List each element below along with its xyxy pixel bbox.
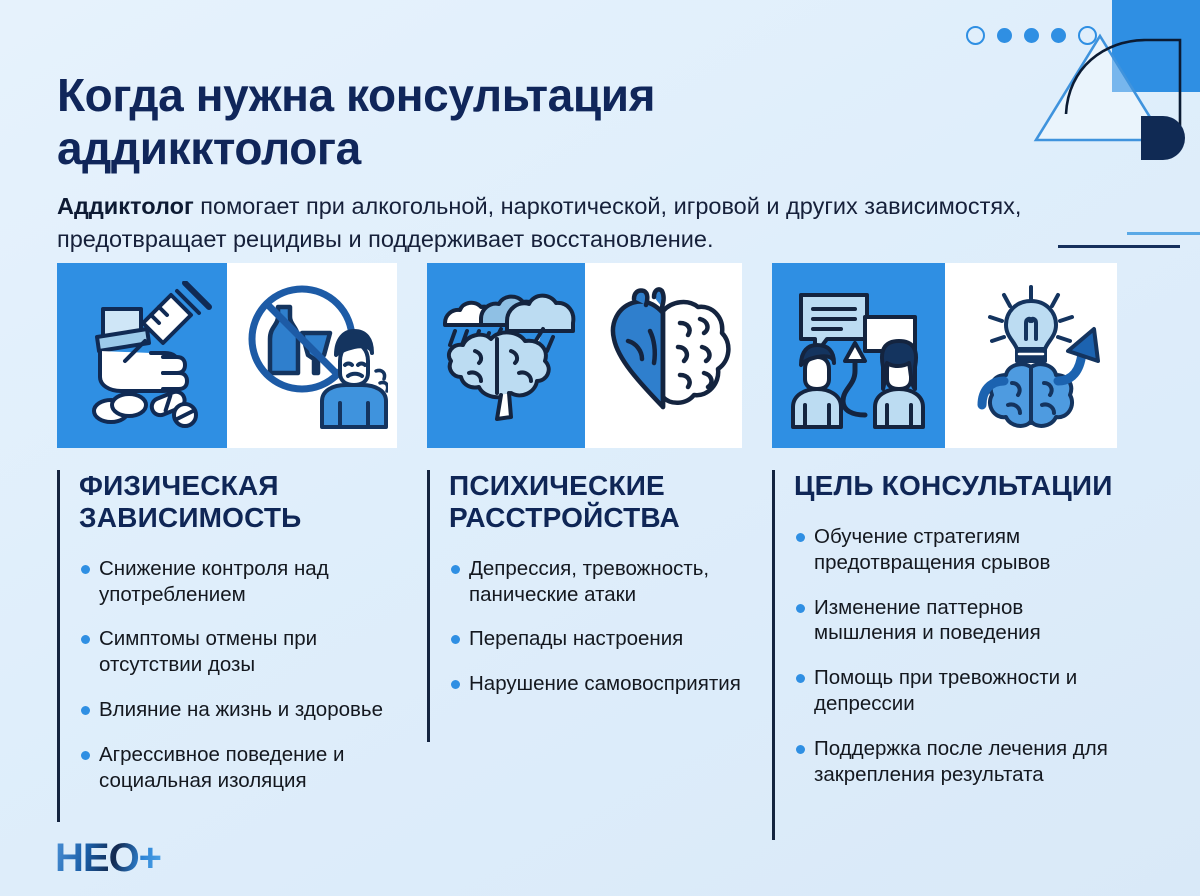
decor-dot-1	[966, 26, 985, 45]
columns-container: ФИЗИЧЕСКАЯ ЗАВИСИМОСТЬ Снижение контроля…	[0, 263, 1200, 813]
logo-text: НЕО+	[55, 838, 161, 878]
subtitle-lead-term: Аддиктолог	[57, 193, 194, 219]
decor-dot-2	[997, 28, 1012, 43]
list-item: Изменение паттернов мышления и поведения	[794, 595, 1117, 647]
decor-half-circle	[1141, 116, 1185, 160]
subtitle-rest: помогает при алкогольной, наркотической,…	[57, 193, 1021, 252]
column-2-body: ПСИХИЧЕСКИЕ РАССТРОЙСТВА Депрессия, трев…	[427, 470, 742, 697]
list-item: Депрессия, тревожность, панические атаки	[449, 556, 742, 608]
list-item: Снижение контроля над употреблением	[79, 556, 397, 608]
column-3-heading: ЦЕЛЬ КОНСУЛЬТАЦИИ	[794, 470, 1117, 502]
arm-syringe-pills-icon	[67, 281, 217, 431]
tile-brain-storm	[427, 263, 585, 448]
list-item: Помощь при тревожности и депрессии	[794, 665, 1117, 717]
list-item: Перепады настроения	[449, 626, 742, 652]
list-item: Агрессивное поведение и социальная изоля…	[79, 742, 397, 794]
column-3-bullet-list: Обучение стратегиям предотвращения срыво…	[794, 524, 1117, 788]
brand-logo: НЕО+	[55, 838, 161, 878]
column-1-tiles	[57, 263, 397, 448]
column-1-body: ФИЗИЧЕСКАЯ ЗАВИСИМОСТЬ Снижение контроля…	[57, 470, 397, 794]
list-item: Нарушение самовосприятия	[449, 671, 742, 697]
people-speech-bubbles-arrow-icon	[783, 281, 933, 431]
column-physical-dependence: ФИЗИЧЕСКАЯ ЗАВИСИМОСТЬ Снижение контроля…	[57, 263, 397, 813]
column-2-tiles	[427, 263, 742, 448]
column-1-bullet-list: Снижение контроля над употреблением Симп…	[79, 556, 397, 794]
heart-brain-icon	[588, 281, 738, 431]
no-alcohol-sad-person-icon	[236, 281, 388, 431]
column-2-bullet-list: Депрессия, тревожность, панические атаки…	[449, 556, 742, 697]
tile-brain-lightbulb	[945, 263, 1118, 448]
page-subtitle: Аддиктолог помогает при алкогольной, нар…	[57, 190, 1102, 257]
column-1-heading: ФИЗИЧЕСКАЯ ЗАВИСИМОСТЬ	[79, 470, 397, 534]
list-item: Симптомы отмены при отсутствии дозы	[79, 626, 397, 678]
column-3-tiles	[772, 263, 1117, 448]
tile-heart-brain	[585, 263, 743, 448]
tile-no-alcohol	[227, 263, 397, 448]
infographic-page: Когда нужна консультация аддикктолога Ад…	[0, 0, 1200, 896]
column-consultation-goal: ЦЕЛЬ КОНСУЛЬТАЦИИ Обучение стратегиям пр…	[772, 263, 1117, 813]
column-mental-disorders: ПСИХИЧЕСКИЕ РАССТРОЙСТВА Депрессия, трев…	[427, 263, 742, 813]
list-item: Поддержка после лечения для закрепления …	[794, 736, 1117, 788]
brain-storm-cloud-icon	[431, 281, 581, 431]
page-title: Когда нужна консультация аддикктолога	[57, 69, 887, 176]
decor-hook-line-icon	[1060, 22, 1190, 127]
list-item: Обучение стратегиям предотвращения срыво…	[794, 524, 1117, 576]
column-3-body: ЦЕЛЬ КОНСУЛЬТАЦИИ Обучение стратегиям пр…	[772, 470, 1117, 788]
list-item: Влияние на жизнь и здоровье	[79, 697, 397, 723]
tile-arm-syringe	[57, 263, 227, 448]
brain-lightbulb-arrows-icon	[956, 281, 1106, 431]
decor-line-light	[1127, 232, 1200, 235]
column-2-heading: ПСИХИЧЕСКИЕ РАССТРОЙСТВА	[449, 470, 742, 534]
tile-people-dialogue	[772, 263, 945, 448]
